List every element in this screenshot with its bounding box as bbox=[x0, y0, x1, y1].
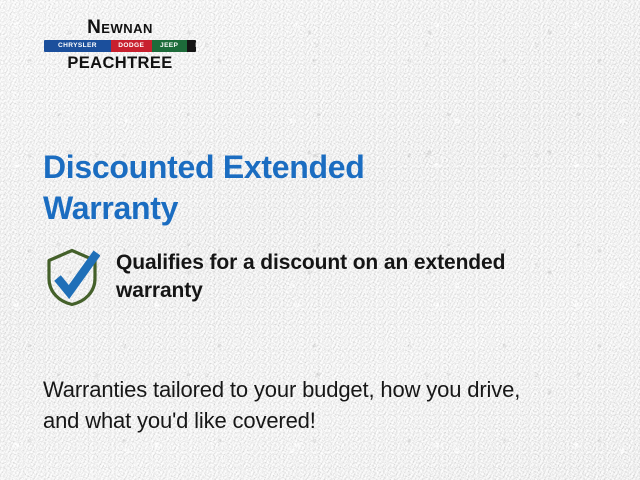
shield-check-icon bbox=[44, 247, 100, 307]
brand-badge-chrysler: CHRYSLER bbox=[44, 40, 111, 52]
brand-badge-jeep: JEEP bbox=[152, 40, 187, 52]
brand-badge-dodge: DODGE bbox=[111, 40, 152, 52]
supporting-text: Warranties tailored to your budget, how … bbox=[43, 374, 533, 436]
brand-badge-ram: RAM bbox=[187, 40, 196, 52]
dealer-logo[interactable]: Newnan CHRYSLER DODGE JEEP RAM PEACHTREE bbox=[44, 18, 196, 72]
page-title: Discounted Extended Warranty bbox=[43, 147, 463, 228]
brand-badge-strip: CHRYSLER DODGE JEEP RAM bbox=[44, 40, 196, 52]
logo-word-peachtree: PEACHTREE bbox=[44, 55, 196, 72]
logo-word-newnan: Newnan bbox=[44, 18, 196, 37]
benefit-row: Qualifies for a discount on an extended … bbox=[44, 245, 564, 307]
benefit-text: Qualifies for a discount on an extended … bbox=[116, 245, 564, 305]
promo-slide: Newnan CHRYSLER DODGE JEEP RAM PEACHTREE… bbox=[0, 0, 640, 480]
